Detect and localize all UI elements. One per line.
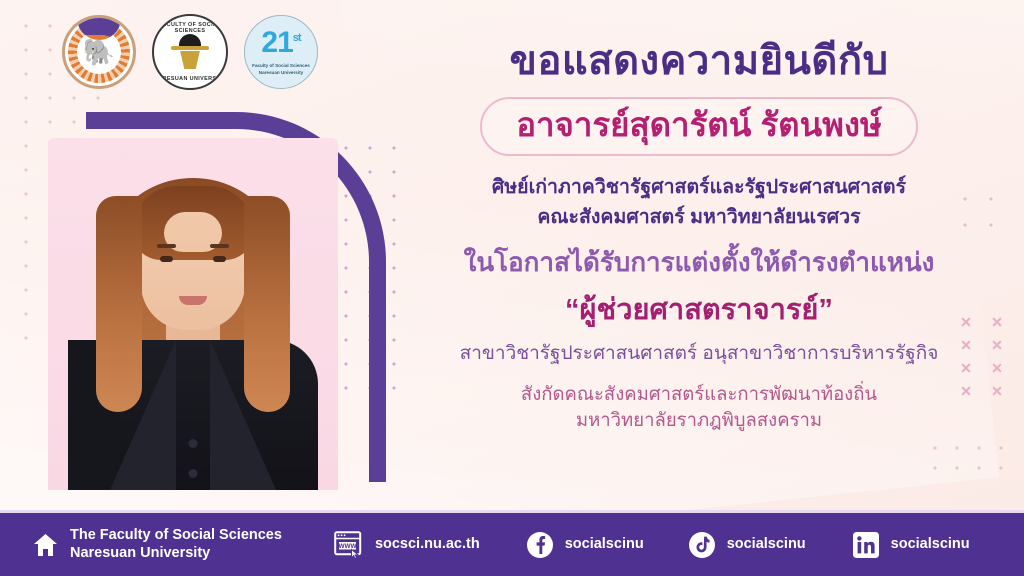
subtitle-line-2: คณะสังคมศาสตร์ มหาวิทยาลัยนเรศวร (398, 202, 1000, 232)
anniversary-caption-1: Faculty of Social Sciences (252, 63, 310, 69)
faculty-of-social-sciences-seal-icon: FACULTY OF SOCIAL SCIENCES NARESUAN UNIV… (152, 14, 228, 90)
naresuan-university-seal-icon: 🐘 (62, 15, 136, 89)
footer-facebook[interactable]: socialscinu (526, 531, 644, 559)
faculty-seal-top-text: FACULTY OF SOCIAL SCIENCES (154, 22, 226, 34)
footer-tiktok-label: socialscinu (727, 536, 806, 553)
position-title: “ผู้ช่วยศาสตราจารย์” (398, 292, 1000, 328)
footer-faculty: The Faculty of Social Sciences Naresuan … (32, 527, 282, 562)
headline: ขอแสดงความยินดีกับ (398, 38, 1000, 84)
footer-faculty-label: The Faculty of Social Sciences Naresuan … (70, 527, 282, 562)
logo-row: 🐘 FACULTY OF SOCIAL SCIENCES NARESUAN UN… (62, 14, 318, 90)
footer-website-label: socsci.nu.ac.th (375, 536, 480, 553)
footer-linkedin-label: socialscinu (891, 536, 970, 553)
anniversary-caption-2: Naresuan University (252, 70, 310, 76)
field-of-study: สาขาวิชารัฐประศาสนศาสตร์ อนุสาขาวิชาการบ… (398, 340, 1000, 369)
honoree-name-pill: อาจารย์สุดารัตน์ รัตนพงษ์ (480, 97, 918, 156)
footer-faculty-line-2: Naresuan University (70, 545, 210, 561)
affiliation-line-1: สังกัดคณะสังคมศาสตร์และการพัฒนาท้องถิ่น (398, 381, 1000, 408)
footer-bar: The Faculty of Social Sciences Naresuan … (0, 513, 1024, 576)
footer-linkedin[interactable]: socialscinu (852, 531, 970, 559)
subtitle-line-1: ศิษย์เก่าภาควิชารัฐศาสตร์และรัฐประศาสนศา… (398, 172, 1000, 202)
www-browser-icon: WWW (334, 531, 364, 559)
footer-facebook-label: socialscinu (565, 536, 644, 553)
affiliation-line-2: มหาวิทยาลัยราภฎพิบูลสงคราม (398, 407, 1000, 434)
dot-pattern-bottom-right (924, 438, 1010, 480)
tiktok-icon (688, 531, 716, 559)
faculty-seal-bottom-text: NARESUAN UNIVERSITY (154, 76, 226, 82)
honoree-photo (48, 138, 338, 490)
occasion-line: ในโอกาสได้รับการแต่งตั้งให้ดำรงตำแหน่ง (398, 246, 1000, 280)
footer-website[interactable]: WWW socsci.nu.ac.th (334, 531, 480, 559)
announcement-text-block: ขอแสดงความยินดีกับ อาจารย์สุดารัตน์ รัตน… (398, 38, 1000, 434)
facebook-icon (526, 531, 554, 559)
anniversary-number: 21 (261, 26, 292, 59)
congratulations-poster: 🐘 FACULTY OF SOCIAL SCIENCES NARESUAN UN… (0, 0, 1024, 576)
footer-tiktok[interactable]: socialscinu (688, 531, 806, 559)
svg-text:WWW: WWW (338, 543, 357, 550)
footer-faculty-line-1: The Faculty of Social Sciences (70, 527, 282, 543)
home-icon (32, 532, 59, 558)
21st-anniversary-badge-icon: 21st Faculty of Social Sciences Naresuan… (244, 15, 318, 89)
anniversary-ordinal: st (293, 32, 301, 44)
linkedin-icon (852, 531, 880, 559)
honoree-name: อาจารย์สุดารัตน์ รัตนพงษ์ (516, 105, 882, 145)
